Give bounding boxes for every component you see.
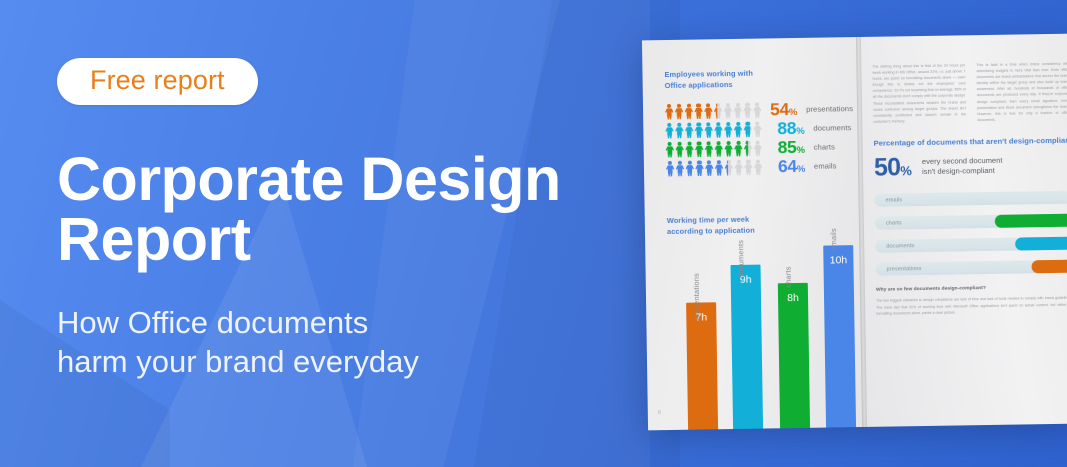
person-icon xyxy=(694,103,703,119)
pictogram-percent-unit: % xyxy=(789,107,797,118)
person-icon-body xyxy=(695,165,704,176)
person-icon xyxy=(675,122,684,138)
pictogram-heading-line2: Office applications xyxy=(665,79,733,89)
pictogram-heading-line1: Employees working with xyxy=(664,69,753,79)
person-icon-head xyxy=(688,160,692,164)
person-icon-body xyxy=(734,126,743,137)
chart-column: 8hcharts xyxy=(778,282,810,428)
person-icon-head xyxy=(746,159,750,163)
person-icon xyxy=(743,121,752,137)
person-icon-body xyxy=(704,127,713,138)
person-icon xyxy=(734,159,743,175)
column-chart-plot: 7hpresentations9hdocuments8hcharts10hema… xyxy=(667,241,856,430)
brochure-mockup: Employees working with Office applicatio… xyxy=(642,34,1067,431)
person-icon-body xyxy=(744,164,753,175)
person-icon-head xyxy=(677,122,681,126)
page-title: Corporate Design Report xyxy=(57,149,617,270)
why-heading: Why are so few documents design-complian… xyxy=(876,285,1067,293)
person-icon xyxy=(675,141,684,157)
chart-bar-value: 10h xyxy=(823,254,853,266)
pictogram-percent-unit: % xyxy=(797,164,805,175)
progress-bar-fill xyxy=(995,213,1067,228)
person-icon-body xyxy=(675,146,684,157)
person-icon-head xyxy=(668,160,672,164)
person-icon xyxy=(685,122,694,138)
page-title-line2: Report xyxy=(57,209,617,269)
chart-column: 9hdocuments xyxy=(731,265,764,429)
person-icon-head xyxy=(678,160,682,164)
person-icon-body xyxy=(754,145,763,156)
person-icon-group xyxy=(665,121,764,139)
person-icon-head xyxy=(707,160,711,164)
person-icon-head xyxy=(677,141,681,145)
chart-bar-value: 8h xyxy=(778,291,808,303)
person-icon-body xyxy=(685,127,694,138)
column-chart-heading-line2: according to application xyxy=(667,225,755,235)
person-icon xyxy=(724,141,733,157)
person-icon-body xyxy=(695,127,704,138)
page-title-line1: Corporate Design xyxy=(57,145,561,213)
person-icon-head xyxy=(745,102,749,106)
person-icon xyxy=(685,160,694,176)
big-stat-caption-line2: isn't design-compliant xyxy=(922,166,995,176)
pictogram-label: documents xyxy=(813,123,851,133)
pictogram-percent-value: 64 xyxy=(778,156,797,176)
person-icon-head xyxy=(736,140,740,144)
chart-column: 10hemails xyxy=(823,245,856,427)
progress-bar-row: presentations xyxy=(875,260,1067,277)
person-icon xyxy=(695,141,704,157)
person-icon-head xyxy=(736,102,740,106)
person-icon-body xyxy=(715,145,724,156)
body-column-2: This is fatal in a time when brand consi… xyxy=(976,61,1067,123)
progress-bar-fill xyxy=(1031,259,1067,274)
person-icon xyxy=(744,140,753,156)
person-icon xyxy=(754,140,763,156)
compliance-section-heading: Percentage of documents that aren't desi… xyxy=(874,136,1067,148)
right-page-content: The striking thing about this is that of… xyxy=(872,61,1067,317)
big-stat: 50% every second document isn't design-c… xyxy=(874,153,1067,181)
progress-bar-fill xyxy=(1015,236,1067,251)
person-icon-head xyxy=(746,121,750,125)
person-icon xyxy=(704,103,713,119)
chart-bar: 7h xyxy=(686,302,718,430)
person-icon-body xyxy=(734,164,743,175)
person-icon-body xyxy=(705,165,714,176)
pictogram-percent: 54% xyxy=(761,101,797,119)
person-icon xyxy=(724,122,733,138)
pictogram-percent: 64% xyxy=(765,158,805,176)
person-icon xyxy=(705,160,714,176)
why-section: Why are so few documents design-complian… xyxy=(876,285,1067,317)
person-icon-head xyxy=(687,122,691,126)
person-icon-body xyxy=(734,145,743,156)
big-stat-value: 50 xyxy=(874,153,901,181)
chart-bar-label: charts xyxy=(784,266,793,287)
person-icon-head xyxy=(717,141,721,145)
person-icon-body xyxy=(695,146,704,157)
person-icon xyxy=(665,122,674,138)
person-icon-head xyxy=(716,122,720,126)
big-stat-number: 50% xyxy=(874,155,911,181)
chart-bar: 8h xyxy=(778,282,810,428)
person-icon-head xyxy=(726,122,730,126)
person-icon-head xyxy=(696,103,700,107)
person-icon-body xyxy=(743,107,752,118)
column-chart-heading: Working time per week according to appli… xyxy=(667,213,853,237)
hero-copy: Free report Corporate Design Report How … xyxy=(57,58,617,381)
chart-column: 7hpresentations xyxy=(686,302,718,430)
pictogram-label: emails xyxy=(814,161,837,170)
chart-bar-label: documents xyxy=(736,240,746,278)
person-icon-group xyxy=(665,102,762,120)
person-icon xyxy=(725,160,734,176)
promo-banner: Free report Corporate Design Report How … xyxy=(0,0,1067,467)
person-icon-body xyxy=(666,165,675,176)
person-icon-body xyxy=(705,146,714,157)
progress-bar-row: emails xyxy=(874,191,1067,208)
person-icon-body xyxy=(666,146,675,157)
progress-bar-label: charts xyxy=(886,220,902,226)
person-icon-head xyxy=(697,122,701,126)
person-icon-head xyxy=(707,141,711,145)
progress-bar-label: documents xyxy=(886,243,914,249)
person-icon-body xyxy=(665,108,674,119)
brochure-right-page: The striking thing about this is that of… xyxy=(858,34,1067,427)
chart-bar: 10h xyxy=(823,245,856,427)
person-icon xyxy=(744,159,753,175)
person-icon-head xyxy=(667,103,671,107)
person-icon-head xyxy=(697,141,701,145)
pictogram-label: charts xyxy=(814,142,835,151)
person-icon-body xyxy=(685,165,694,176)
body-columns: The striking thing about this is that of… xyxy=(872,61,1067,125)
person-icon-head xyxy=(668,141,672,145)
person-icon-body xyxy=(724,126,733,137)
person-icon-head xyxy=(755,121,759,125)
person-icon xyxy=(695,160,704,176)
pictogram-rows: 54%presentations88%documents85%charts64%… xyxy=(665,99,854,178)
person-icon xyxy=(665,103,674,119)
person-icon-body xyxy=(714,126,723,137)
person-icon-head xyxy=(756,159,760,163)
why-body-text: The two biggest obstacles to design comp… xyxy=(876,295,1067,317)
person-icon-body xyxy=(694,108,703,119)
free-report-badge[interactable]: Free report xyxy=(57,58,258,105)
person-icon xyxy=(666,141,675,157)
person-icon-body xyxy=(733,107,742,118)
progress-bar-row: documents xyxy=(875,237,1067,254)
person-icon xyxy=(753,102,762,118)
person-icon xyxy=(714,141,723,157)
person-icon-head xyxy=(706,103,710,107)
pictogram-heading: Employees working with Office applicatio… xyxy=(664,67,852,91)
person-icon xyxy=(714,122,723,138)
person-icon-head xyxy=(755,102,759,106)
big-stat-unit: % xyxy=(900,163,911,178)
person-icon xyxy=(743,102,752,118)
person-icon xyxy=(754,159,763,175)
person-icon-body xyxy=(685,108,694,119)
person-icon xyxy=(714,103,723,119)
person-icon xyxy=(734,121,743,137)
person-icon-body xyxy=(685,146,694,157)
pictogram-percent-value: 88 xyxy=(777,118,796,138)
person-icon-body xyxy=(676,165,685,176)
progress-bar-list: emailschartsdocumentspresentations xyxy=(874,191,1067,277)
body-column-1: The striking thing about this is that of… xyxy=(872,62,966,124)
pictogram-percent-value: 85 xyxy=(777,137,796,157)
pictogram-label: presentations xyxy=(806,104,853,114)
person-icon xyxy=(685,103,694,119)
person-icon xyxy=(705,141,714,157)
page-subtitle-line1: How Office documents xyxy=(57,305,368,340)
person-icon xyxy=(685,141,694,157)
chart-bar: 9h xyxy=(731,265,764,429)
person-icon-group xyxy=(666,159,765,177)
pictogram-percent: 85% xyxy=(765,139,805,157)
page-subtitle: How Office documents harm your brand eve… xyxy=(57,303,617,381)
pictogram-percent: 88% xyxy=(764,120,804,138)
chart-bar-value: 9h xyxy=(731,274,761,286)
person-icon-body xyxy=(665,127,674,138)
body-text-1: The striking thing about this is that of… xyxy=(872,62,966,124)
person-icon xyxy=(733,102,742,118)
person-icon-body xyxy=(724,145,733,156)
person-icon xyxy=(675,103,684,119)
person-icon xyxy=(715,160,724,176)
person-icon-head xyxy=(677,103,681,107)
person-icon xyxy=(704,122,713,138)
brochure-left-page: Employees working with Office applicatio… xyxy=(642,37,864,430)
person-icon-body xyxy=(704,108,713,119)
person-icon-body xyxy=(675,108,684,119)
progress-bar-label: emails xyxy=(885,197,902,203)
person-icon-body xyxy=(724,107,733,118)
person-icon-body xyxy=(675,127,684,138)
person-icon-head xyxy=(736,159,740,163)
person-icon-head xyxy=(687,141,691,145)
person-icon xyxy=(734,140,743,156)
person-icon-body xyxy=(753,107,762,118)
pictogram-percent-unit: % xyxy=(796,126,804,137)
person-icon xyxy=(753,121,762,137)
person-icon-head xyxy=(736,121,740,125)
person-icon-head xyxy=(726,141,730,145)
progress-bar-label: presentations xyxy=(887,266,922,273)
pictogram-percent-unit: % xyxy=(796,145,804,156)
person-icon xyxy=(666,160,675,176)
pictogram-infographic: Employees working with Office applicatio… xyxy=(664,67,854,178)
page-subtitle-line2: harm your brand everyday xyxy=(57,342,617,381)
person-icon-head xyxy=(726,103,730,107)
big-stat-caption: every second document isn't design-compl… xyxy=(922,155,1003,178)
page-number: 8 xyxy=(658,410,661,416)
person-icon-head xyxy=(717,160,721,164)
chart-bar-label: emails xyxy=(829,228,838,251)
column-chart: Working time per week according to appli… xyxy=(667,213,856,430)
person-icon-body xyxy=(754,164,763,175)
person-icon-head xyxy=(667,122,671,126)
pictogram-percent-value: 54 xyxy=(770,99,789,119)
pictogram-row: 64%emails xyxy=(666,156,854,178)
person-icon-body xyxy=(715,164,724,175)
chart-bar-label: presentations xyxy=(692,273,702,320)
person-icon xyxy=(695,122,704,138)
column-chart-heading-line1: Working time per week xyxy=(667,215,750,225)
person-icon-group xyxy=(666,140,765,158)
big-stat-caption-line1: every second document xyxy=(922,155,1003,165)
body-text-2: This is fatal in a time when brand consi… xyxy=(976,61,1067,123)
person-icon xyxy=(676,160,685,176)
progress-bar-row: charts xyxy=(875,214,1067,231)
person-icon-head xyxy=(697,160,701,164)
person-icon-head xyxy=(756,140,760,144)
person-icon-head xyxy=(687,103,691,107)
person-icon-body xyxy=(753,126,762,137)
person-icon-head xyxy=(706,122,710,126)
person-icon xyxy=(724,103,733,119)
